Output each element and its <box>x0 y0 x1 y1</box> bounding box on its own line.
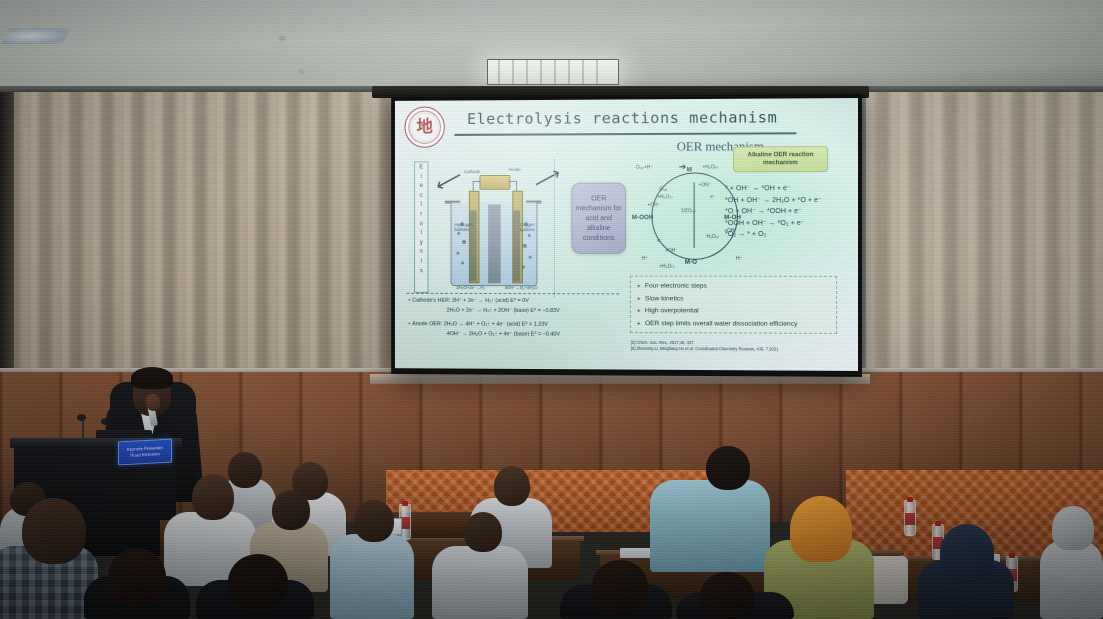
power-supply-icon <box>479 175 510 190</box>
anode-label: Anode OER: <box>412 321 442 327</box>
audience-member-head <box>464 512 502 552</box>
water-bottle <box>904 500 916 536</box>
alkaline-equation: * + OH⁻ → *OH + e⁻ <box>725 182 844 194</box>
anode-base-eq: 4OH⁻ → 2H₂O + O₂↑ + 4e⁻ (base) E⁰ = −0.4… <box>447 331 560 337</box>
ceiling-vent-dot <box>279 36 286 41</box>
cathode-acid-eq: 2H⁺ + 2e⁻ → H₂↑ (acid) E⁰ = 0V <box>452 298 529 304</box>
bullet-item: Four electronic steps <box>637 281 830 294</box>
audience-member-head <box>22 498 86 564</box>
audience-member-head <box>494 466 530 506</box>
projection-screen: 地 Electrolysis reactions mechanism OER m… <box>391 94 862 377</box>
ceiling-light-fixture <box>487 59 619 85</box>
electrolysis-cell-diagram: Cathode Anode <box>437 165 551 291</box>
cathode-base-eq: 2H₂O + 2e⁻ → H₂↑ + 2OH⁻ (base) E⁰ = −0.8… <box>447 307 560 313</box>
ceiling-light-glare <box>1 28 72 44</box>
audience-member-hijab <box>790 496 852 562</box>
alkaline-equations-list: * + OH⁻ → *OH + e⁻ *OH + OH⁻ → 2H₂O + *O… <box>725 182 844 240</box>
audience-member-head <box>354 500 394 542</box>
references-list: [5] Chem. Soc. Rev., 2017,46, 337 [6] Zh… <box>631 340 843 352</box>
audience-member-head <box>700 572 754 619</box>
audience-member-head <box>192 474 234 520</box>
key-points-box: Four electronic steps Slow kinetics High… <box>630 276 837 334</box>
diagram-divider <box>554 159 555 297</box>
cathode-label: Cathode's HER: <box>412 298 450 304</box>
bullet-item: OER step limits overall water dissociati… <box>637 318 830 331</box>
alkaline-equation: *OOH + OH⁻ → *O₂ + e⁻ <box>725 217 844 229</box>
alkaline-equation: *O + OH⁻ → *OOH + e⁻ <box>725 205 844 217</box>
university-seal-logo: 地 <box>405 106 445 147</box>
audience-member-hijab <box>940 524 994 582</box>
anode-acid-eq: 2H₂O → 4H⁺ + O₂↑ + 4e⁻ (acid) E⁰ = 1.23V <box>444 322 548 328</box>
audience-member-head <box>228 554 288 610</box>
presentation-slide: 地 Electrolysis reactions mechanism OER m… <box>395 98 858 371</box>
conference-room-photo: 地 Electrolysis reactions mechanism OER m… <box>0 0 1103 619</box>
audience-member-torso <box>432 546 528 619</box>
ceiling-sensor-dot <box>298 69 305 74</box>
title-underline <box>454 132 796 136</box>
vertical-electrolysis-label: Electr olysis <box>414 161 428 292</box>
alkaline-equation: *O₂ → * + O₂ <box>725 228 844 240</box>
reference-item: [6] Zhenxing Li, Mingliang Hu et al. Coo… <box>631 345 843 352</box>
audience-member-torso <box>330 534 414 619</box>
audience-member-head <box>108 548 166 606</box>
audience-member-head <box>706 446 750 490</box>
audience-member-head <box>228 452 262 488</box>
bullet-item: Slow kinetics <box>637 293 830 306</box>
bullet-item: High overpotential <box>637 305 830 318</box>
equations-divider <box>406 293 619 295</box>
half-reaction-equations: •Cathode's HER: 2H⁺ + 2e⁻ → H₂↑ (acid) E… <box>408 297 631 341</box>
membrane <box>488 205 501 284</box>
audience-member-head <box>272 490 310 530</box>
name-card-line-2: Road Emission <box>130 451 160 459</box>
oer-mechanism-box: OER mechanism for acid and alkaline cond… <box>571 183 626 254</box>
speaker-hair <box>131 367 173 389</box>
audience-member-torso <box>650 480 770 572</box>
audience-member-torso <box>1040 540 1103 619</box>
speaker-name-card: Keynote Presenter Road Emission <box>118 439 172 466</box>
audience-member-hijab <box>1052 506 1094 550</box>
microphone-head-icon <box>77 414 86 421</box>
slide-title: Electrolysis reactions mechanism <box>466 108 779 127</box>
alkaline-equation: *OH + OH⁻ → 2H₂O + *O + e⁻ <box>725 194 844 206</box>
alkaline-oer-box: Alkaline OER reaction mechanism <box>733 146 828 172</box>
audience-member-head <box>592 560 648 612</box>
